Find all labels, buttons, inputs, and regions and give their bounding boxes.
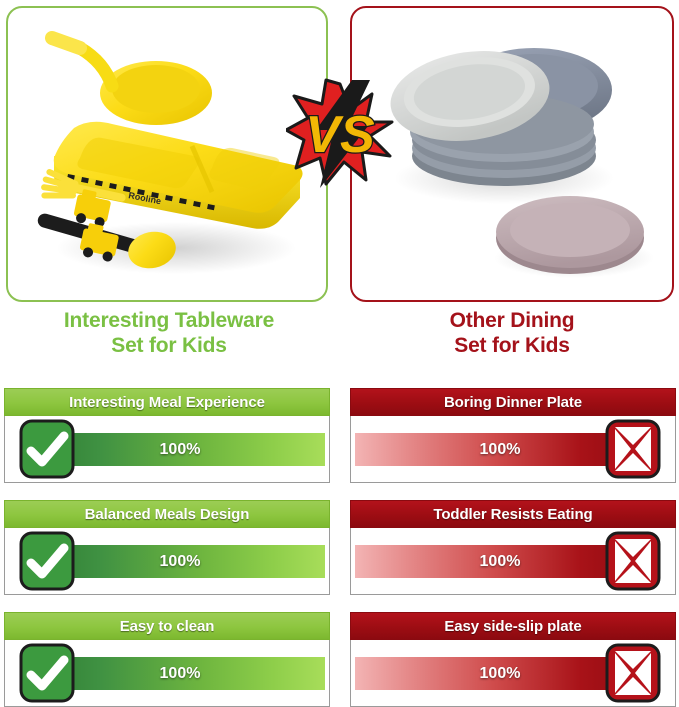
other-title-line1: Other Dining bbox=[348, 308, 676, 333]
bad-progress-value: 100% bbox=[480, 441, 521, 459]
check-icon bbox=[19, 531, 75, 591]
good-feature-title: Easy to clean bbox=[4, 612, 330, 640]
section-titles: Interesting Tableware Set for Kids Other… bbox=[0, 308, 679, 376]
vs-label: VS bbox=[305, 106, 375, 164]
bad-progress-bar: 100% bbox=[355, 545, 645, 578]
good-progress-bar: 100% bbox=[35, 545, 325, 578]
cross-icon bbox=[605, 419, 661, 479]
check-icon bbox=[19, 643, 75, 703]
bad-feature-card: Toddler Resists Eating 100% bbox=[350, 500, 676, 595]
product-panels: Rooline bbox=[0, 0, 679, 306]
vs-badge-icon: VS bbox=[286, 78, 394, 190]
good-feature-title: Interesting Meal Experience bbox=[4, 388, 330, 416]
good-title-line1: Interesting Tableware bbox=[4, 308, 334, 333]
good-progress-bar: 100% bbox=[35, 433, 325, 466]
cross-icon bbox=[605, 643, 661, 703]
feature-row: Balanced Meals Design 100% Toddler Resis… bbox=[0, 500, 679, 595]
good-feature-card: Balanced Meals Design 100% bbox=[4, 500, 330, 595]
bad-feature-title: Boring Dinner Plate bbox=[350, 388, 676, 416]
bad-feature-card: Easy side-slip plate 100% bbox=[350, 612, 676, 707]
plates-illustration bbox=[374, 18, 654, 288]
bad-feature-title: Easy side-slip plate bbox=[350, 612, 676, 640]
bad-progress-value: 100% bbox=[480, 665, 521, 683]
good-progress-bar: 100% bbox=[35, 657, 325, 690]
bad-feature-title: Toddler Resists Eating bbox=[350, 500, 676, 528]
good-feature-card: Interesting Meal Experience 100% bbox=[4, 388, 330, 483]
feature-row: Interesting Meal Experience 100% Boring … bbox=[0, 388, 679, 483]
vs-badge: VS bbox=[286, 78, 394, 190]
good-feature-body: 100% bbox=[4, 528, 330, 595]
good-product-title: Interesting Tableware Set for Kids bbox=[4, 308, 334, 358]
yellow-tray-illustration: Rooline bbox=[16, 16, 316, 291]
good-product-image: Rooline bbox=[8, 8, 326, 300]
good-feature-body: 100% bbox=[4, 640, 330, 707]
good-product-panel: Rooline bbox=[6, 6, 328, 302]
bad-progress-value: 100% bbox=[480, 553, 521, 571]
good-progress-value: 100% bbox=[160, 441, 201, 459]
other-title-line2: Set for Kids bbox=[348, 333, 676, 358]
feature-row: Easy to clean 100% Easy side-slip plate … bbox=[0, 612, 679, 707]
other-product-title: Other Dining Set for Kids bbox=[348, 308, 676, 358]
bad-feature-body: 100% bbox=[350, 528, 676, 595]
bad-progress-bar: 100% bbox=[355, 657, 645, 690]
plain-plates-photo bbox=[374, 18, 654, 288]
cross-icon bbox=[605, 531, 661, 591]
bad-progress-bar: 100% bbox=[355, 433, 645, 466]
good-progress-value: 100% bbox=[160, 553, 201, 571]
check-icon bbox=[19, 419, 75, 479]
bad-feature-body: 100% bbox=[350, 640, 676, 707]
other-product-image bbox=[352, 8, 672, 300]
feature-comparison-rows: Interesting Meal Experience 100% Boring … bbox=[0, 388, 679, 705]
good-feature-title: Balanced Meals Design bbox=[4, 500, 330, 528]
good-progress-value: 100% bbox=[160, 665, 201, 683]
yellow-tray-photo: Rooline bbox=[16, 16, 316, 291]
bad-feature-body: 100% bbox=[350, 416, 676, 483]
bad-feature-card: Boring Dinner Plate 100% bbox=[350, 388, 676, 483]
good-feature-body: 100% bbox=[4, 416, 330, 483]
good-feature-card: Easy to clean 100% bbox=[4, 612, 330, 707]
other-product-panel bbox=[350, 6, 674, 302]
good-title-line2: Set for Kids bbox=[4, 333, 334, 358]
